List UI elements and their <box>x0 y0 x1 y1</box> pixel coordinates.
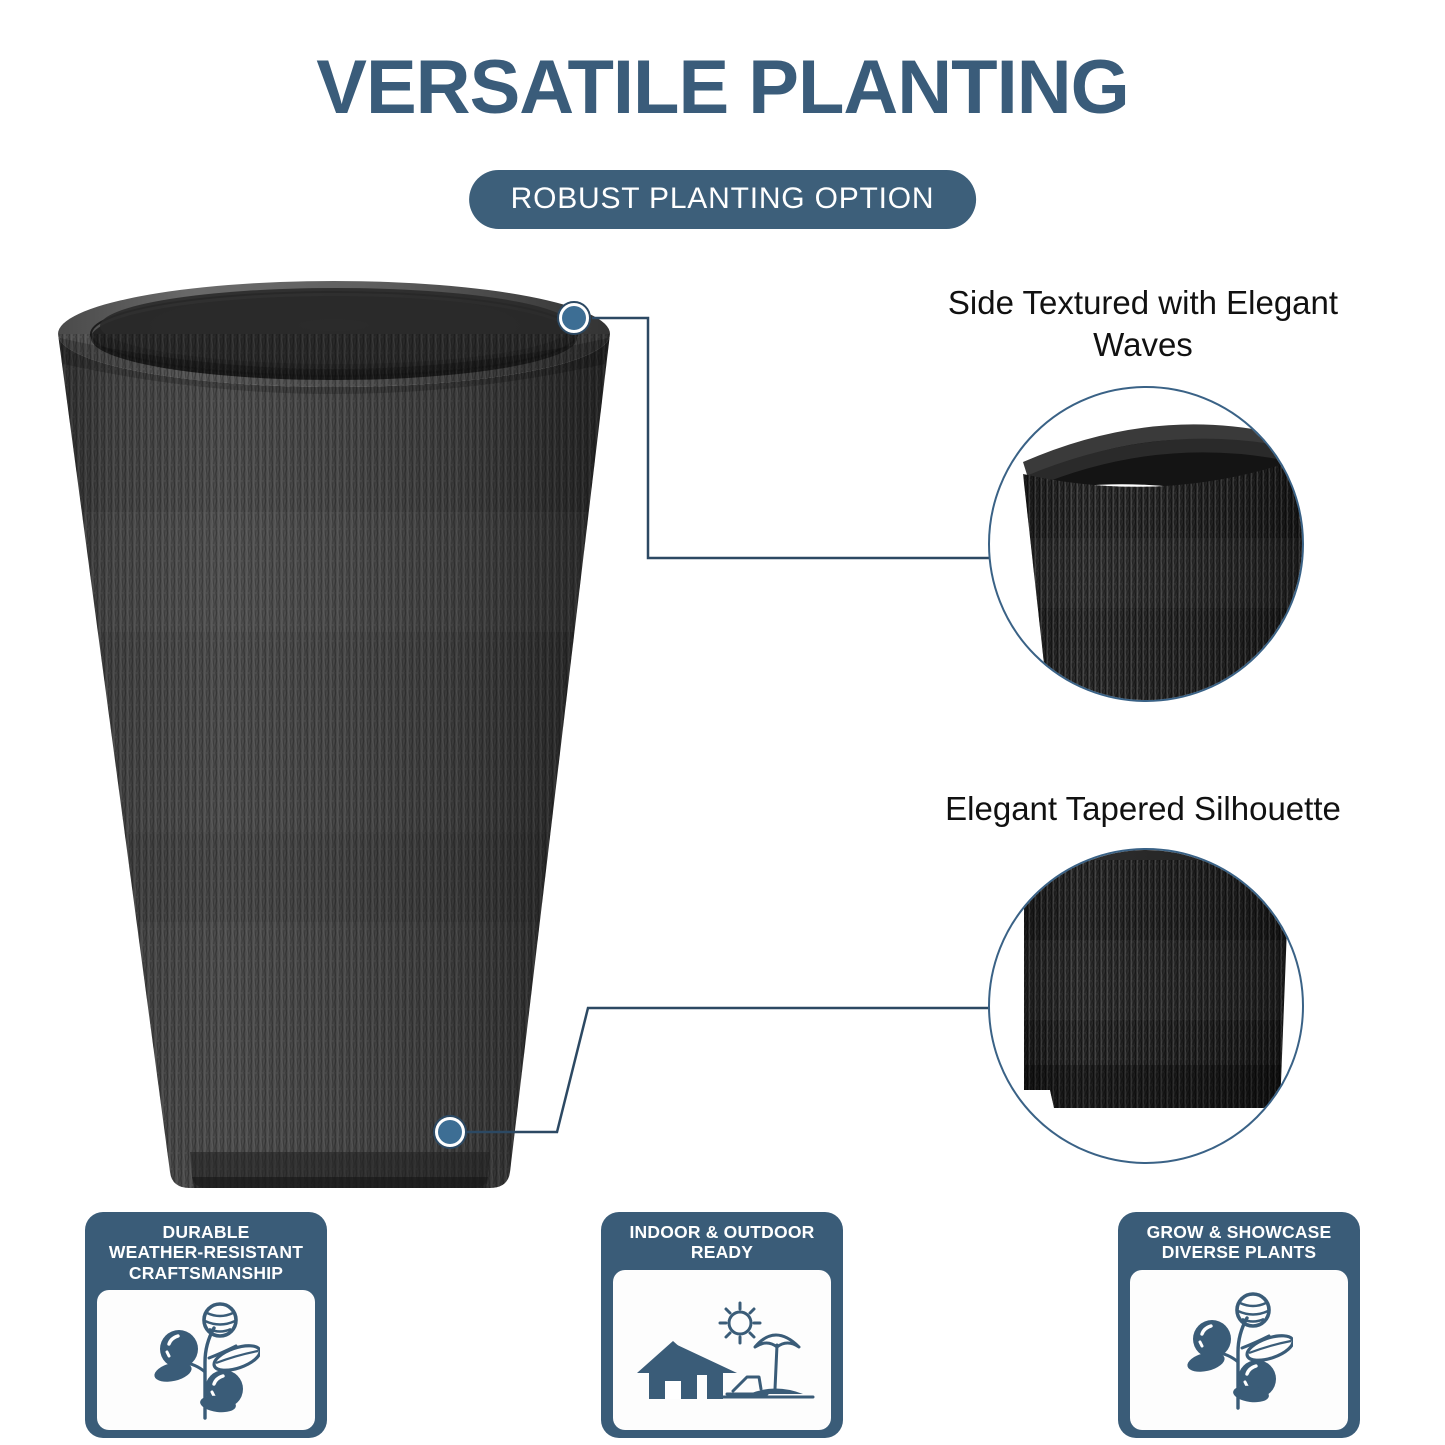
house-sun-beach-icon <box>627 1295 817 1405</box>
sun-icon <box>720 1303 760 1343</box>
feature-badge-indoor-outdoor[interactable]: INDOOR & OUTDOOR READY <box>601 1212 843 1438</box>
callout-label-line-1: Side Textured with Elegant <box>908 282 1378 324</box>
feature-badge-title: GROW & SHOWCASE DIVERSE PLANTS <box>1126 1222 1352 1263</box>
callout-dot-icon-top[interactable] <box>557 301 591 335</box>
feature-badge-title: DURABLE WEATHER-RESISTANT CRAFTSMANSHIP <box>93 1222 319 1283</box>
berry-sprig-icon <box>152 1300 260 1420</box>
beach-icon <box>723 1335 813 1397</box>
feature-badge-grow-showcase[interactable]: GROW & SHOWCASE DIVERSE PLANTS <box>1118 1212 1360 1438</box>
callout-label-side-texture: Side Textured with Elegant Waves <box>908 282 1378 366</box>
house-icon <box>637 1341 737 1399</box>
feature-badge-durable[interactable]: DURABLE WEATHER-RESISTANT CRAFTSMANSHIP <box>85 1212 327 1438</box>
page-title: VERSATILE PLANTING <box>0 44 1445 131</box>
subtitle-badge: ROBUST PLANTING OPTION <box>469 170 977 229</box>
callout-label-line-1: Elegant Tapered Silhouette <box>908 788 1378 830</box>
detail-closeup-rim-texture <box>988 386 1304 702</box>
feature-badges: DURABLE WEATHER-RESISTANT CRAFTSMANSHIP <box>0 1212 1445 1445</box>
product-image-planter <box>40 272 640 1212</box>
infographic-page: VERSATILE PLANTING ROBUST PLANTING OPTIO… <box>0 0 1445 1445</box>
feature-badge-icon-box <box>97 1290 315 1430</box>
feature-badge-icon-box <box>1130 1270 1348 1430</box>
berry-sprig-icon <box>1185 1290 1293 1410</box>
callout-dot-icon-bottom[interactable] <box>433 1115 467 1149</box>
feature-badge-icon-box <box>613 1270 831 1430</box>
callout-label-line-2: Waves <box>908 324 1378 366</box>
feature-badge-title: INDOOR & OUTDOOR READY <box>609 1222 835 1263</box>
callout-label-tapered-silhouette: Elegant Tapered Silhouette <box>908 788 1378 830</box>
detail-closeup-base-taper <box>988 848 1304 1164</box>
